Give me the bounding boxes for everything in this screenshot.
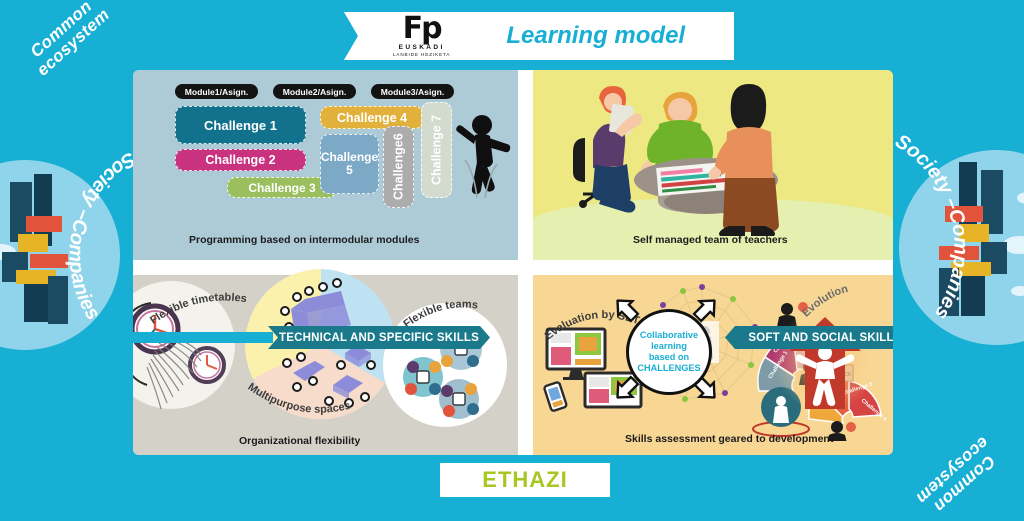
svg-text:Evolution: Evolution [800, 283, 850, 320]
svg-text:Multipurpose spaces: Multipurpose spaces [246, 381, 352, 416]
left-connector-bar [133, 332, 273, 343]
module-chip-2: Module2/Asign. [273, 84, 356, 99]
challenge-block-1: Challenge 1 [175, 106, 306, 144]
quadrant-soft-skills: Self managed team of teachers [533, 70, 893, 260]
challenge-block-5: Challenge 5 [320, 134, 379, 194]
svg-text:Flexible teams: Flexible teams [401, 298, 478, 330]
caption-technical: Programming based on intermodular module… [189, 234, 419, 246]
arc-left-text: Society –Companies [64, 147, 139, 323]
infographic-stage: Society –Companies Society –Companies Co… [0, 0, 1024, 513]
caption-organizational: Organizational flexibility [239, 435, 360, 447]
badge-text: Collaborativelearningbased onCHALLENGES [637, 330, 700, 373]
technical-skills-banner: TECHNICAL AND SPECIFIC SKILLS [268, 326, 490, 349]
svg-text:Society –Companies: Society –Companies [891, 130, 971, 323]
logo-mark: Fp [403, 14, 441, 44]
module-chip-1: Module1/Asign. [175, 84, 258, 99]
challenge-block-2: Challenge 2 [175, 149, 306, 171]
caption-soft: Self managed team of teachers [633, 234, 788, 246]
common-ecosystem-label-bottom-right: Common ecosystem [913, 434, 1004, 521]
page-title: Learning model [506, 22, 685, 50]
header-ribbon: Fp EUSKADI LANBIDE HEZIKETA Learning mod… [344, 12, 734, 60]
teachers-team-illustration [553, 76, 853, 236]
quadrant-organizational-flexibility: Flexible timetables [133, 275, 518, 455]
quadrant-technical-skills: Module1/Asign. Module2/Asign. Module3/As… [133, 70, 518, 260]
challenge-block-7: Challenge 7 [421, 102, 452, 198]
challenge-block-6: Challenge6 [383, 126, 414, 208]
common-ecosystem-label-top-left: Common ecosystem [22, 0, 113, 79]
challenge-block-4: Challenge 4 [320, 106, 424, 129]
svg-text:Flexible timetables: Flexible timetables [148, 291, 248, 326]
svg-text:Society –Companies: Society –Companies [64, 147, 139, 323]
caption-assessment: Skills assessment geared to development [625, 433, 833, 445]
module-chip-3: Module3/Asign. [371, 84, 454, 99]
model-card: Module1/Asign. Module2/Asign. Module3/As… [133, 70, 893, 455]
jumping-person-icon [455, 108, 511, 202]
evolution-label: Evolution [801, 277, 893, 331]
ethazi-label: ETHAZI [482, 467, 567, 493]
logo-line-1: EUSKADI [399, 45, 445, 52]
badge-disc: Collaborativelearningbased onCHALLENGES [626, 309, 712, 395]
soft-skills-banner: SOFT AND SOCIAL SKILLS [725, 326, 893, 349]
footer-ribbon: ETHAZI [440, 463, 610, 497]
arc-right-text: Society –Companies [891, 130, 971, 323]
fp-euskadi-logo: Fp EUSKADI LANBIDE HEZIKETA [393, 14, 450, 57]
logo-line-2: LANBIDE HEZIKETA [393, 53, 450, 58]
collaborative-learning-badge: Collaborativelearningbased onCHALLENGES [613, 296, 719, 402]
